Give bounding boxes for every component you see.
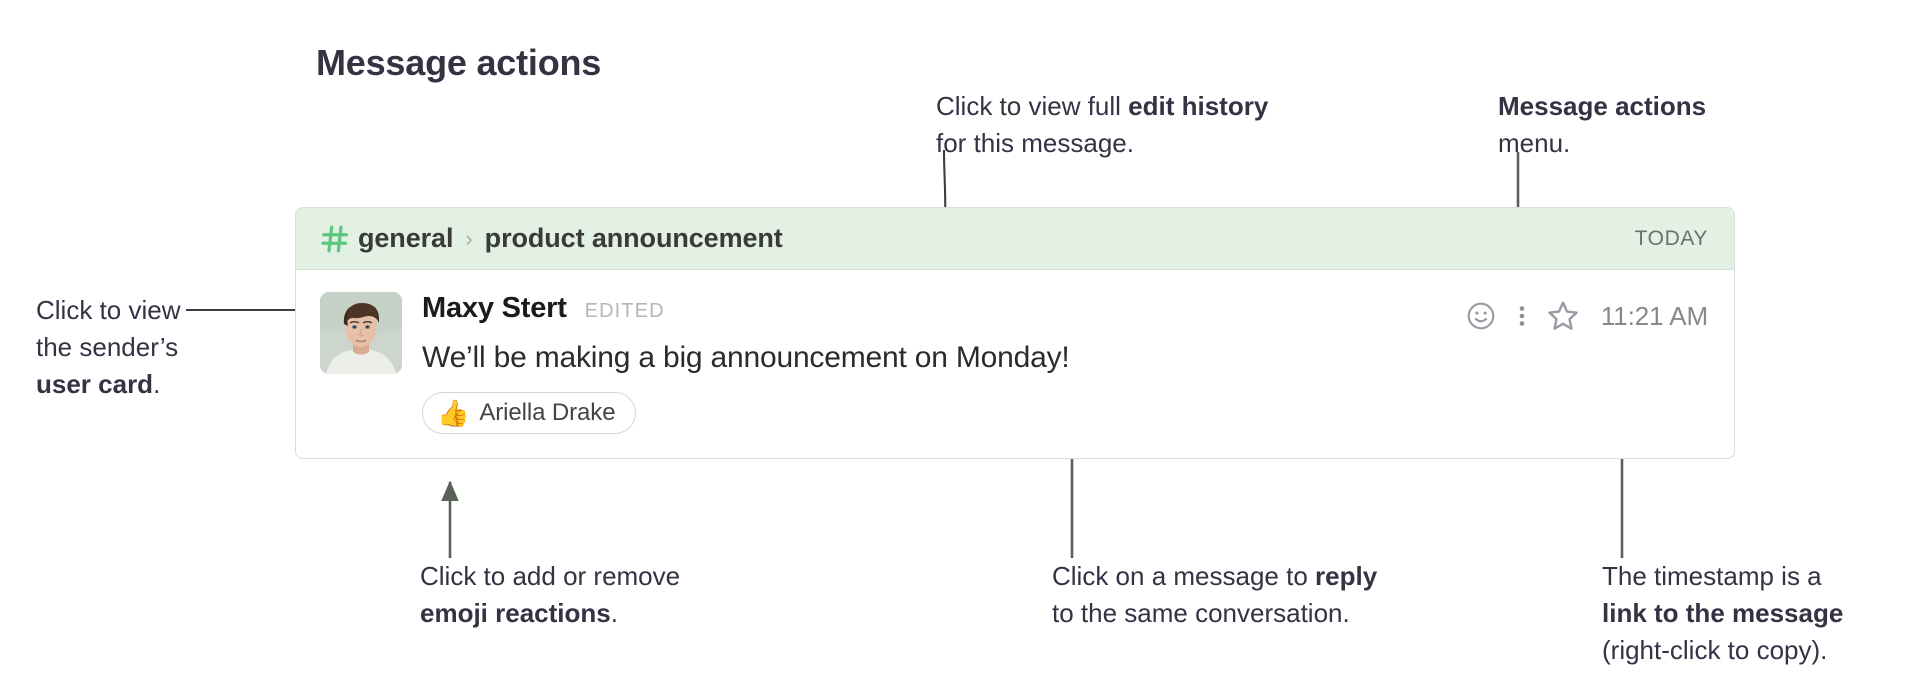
annotation-emoji-reactions: Click to add or remove emoji reactions. [420,558,680,632]
annotation-timestamp-line2-bold: link to the message [1602,598,1843,628]
annotation-edit-history: Click to view full edit history for this… [936,88,1268,162]
message-card: general › product announcement TODAY [295,207,1735,459]
annotation-timestamp-line1: The timestamp is a [1602,558,1843,595]
annotation-edit-history-line1-bold: edit history [1128,91,1268,121]
annotation-emoji-line1: Click to add or remove [420,558,680,595]
annotation-edit-history-line1-prefix: Click to view full [936,91,1128,121]
page-title: Message actions [316,42,601,84]
reaction-row: 👍 Ariella Drake [422,392,1708,434]
breadcrumb-separator-icon: › [465,228,472,250]
star-icon[interactable] [1539,296,1587,336]
reaction-user-label: Ariella Drake [479,399,615,427]
annotation-user-card-line3-suffix: . [153,369,160,399]
message-actions-group: 11:21 AM [1457,296,1708,336]
emoji-reaction-pill[interactable]: 👍 Ariella Drake [422,392,636,434]
avatar[interactable] [320,292,402,374]
annotation-user-card-line3-bold: user card [36,369,153,399]
breadcrumb-topic[interactable]: product announcement [485,223,783,254]
annotation-emoji-line2-bold: emoji reactions [420,598,611,628]
breadcrumb-channel[interactable]: general [358,223,453,254]
date-label: TODAY [1635,227,1708,251]
emoji-reaction-icon[interactable] [1457,296,1505,336]
annotation-timestamp-line3: (right-click to copy). [1602,632,1843,669]
annotation-timestamp-link: The timestamp is a link to the message (… [1602,558,1843,669]
thumbs-up-emoji: 👍 [437,400,469,426]
annotation-reply-line2: to the same conversation. [1052,595,1377,632]
hash-icon [320,224,350,254]
annotation-reply: Click on a message to reply to the same … [1052,558,1377,632]
annotation-emoji-line2-suffix: . [611,598,618,628]
message-row[interactable]: Maxy Stert EDITED We’ll be making a big … [296,270,1734,434]
message-actions-menu-icon[interactable] [1505,296,1539,336]
message-timestamp-link[interactable]: 11:21 AM [1601,301,1708,332]
annotation-reply-line1-prefix: Click on a message to [1052,561,1315,591]
annotation-reply-line1-bold: reply [1315,561,1377,591]
edited-badge[interactable]: EDITED [585,300,665,323]
annotation-user-card-line1: Click to view [36,292,180,329]
message-text[interactable]: We’ll be making a big announcement on Mo… [422,340,1708,376]
sender-name[interactable]: Maxy Stert [422,292,567,325]
annotation-user-card-line2: the sender’s [36,329,180,366]
annotation-actions-menu: Message actions menu. [1498,88,1706,162]
annotation-edit-history-line2: for this message. [936,125,1268,162]
annotation-actions-menu-line2: menu. [1498,125,1706,162]
annotation-user-card: Click to view the sender’s user card. [36,292,180,403]
channel-header: general › product announcement TODAY [296,208,1734,270]
annotation-actions-menu-line1-bold: Message actions [1498,91,1706,121]
